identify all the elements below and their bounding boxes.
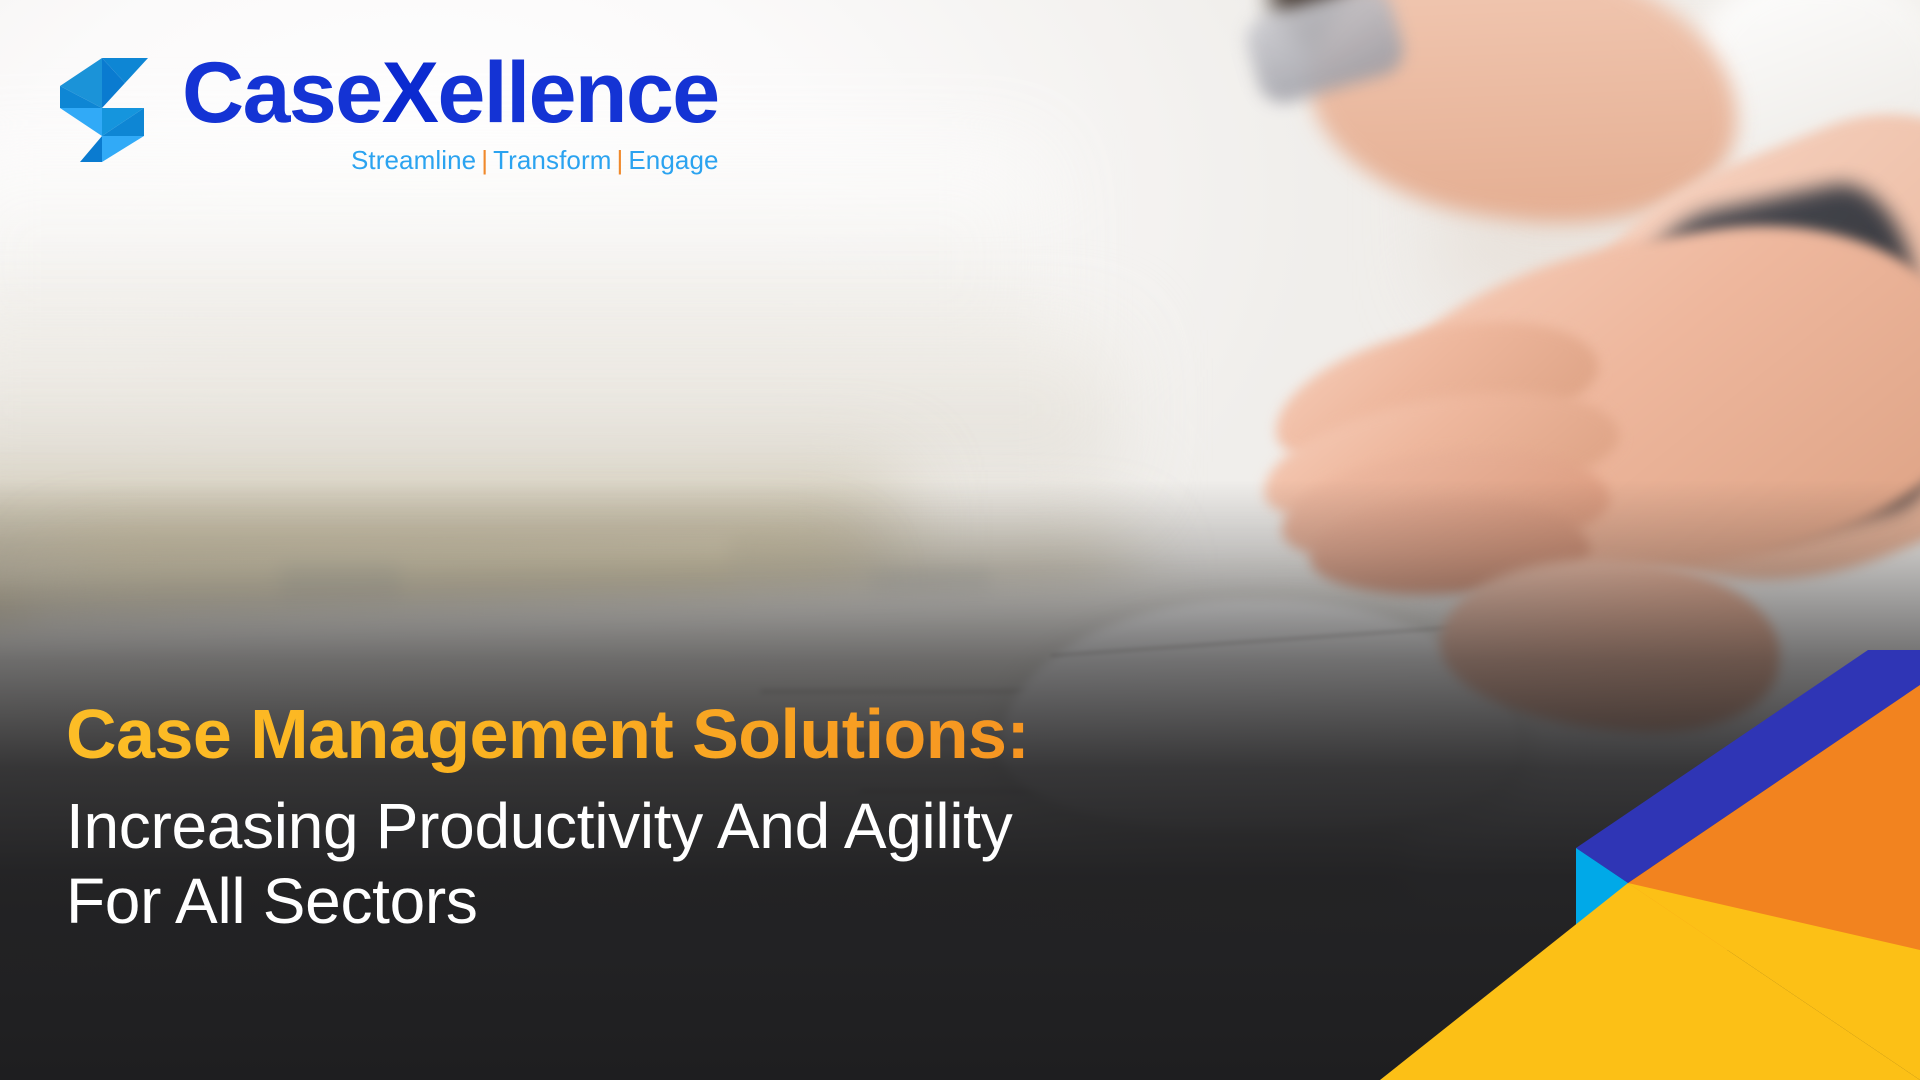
logo-text-block: CaseXellence Streamline|Transform|Engage bbox=[182, 52, 719, 176]
tagline-engage: Engage bbox=[628, 145, 718, 175]
headline-subtitle: Increasing Productivity And Agility For … bbox=[66, 789, 1366, 940]
brand-tagline: Streamline|Transform|Engage bbox=[182, 145, 719, 176]
wordmark-ellence: ellence bbox=[437, 45, 718, 141]
wordmark: CaseXellence bbox=[182, 52, 719, 135]
casexellence-chevron-mark-icon bbox=[56, 56, 148, 164]
brand-logo[interactable]: CaseXellence Streamline|Transform|Engage bbox=[56, 52, 719, 176]
headline-title: Case Management Solutions: bbox=[66, 697, 1366, 773]
tagline-streamline: Streamline bbox=[351, 145, 476, 175]
tagline-transform: Transform bbox=[493, 145, 611, 175]
headline-subtitle-line-2: For All Sectors bbox=[66, 864, 1366, 940]
wordmark-x: X bbox=[382, 45, 438, 141]
tagline-separator: | bbox=[481, 145, 488, 175]
headline-subtitle-line-1: Increasing Productivity And Agility bbox=[66, 789, 1366, 865]
tagline-separator: | bbox=[617, 145, 624, 175]
headline-block: Case Management Solutions: Increasing Pr… bbox=[66, 697, 1366, 940]
hero-banner: CaseXellence Streamline|Transform|Engage… bbox=[0, 0, 1920, 1080]
wordmark-case: Case bbox=[182, 45, 382, 141]
